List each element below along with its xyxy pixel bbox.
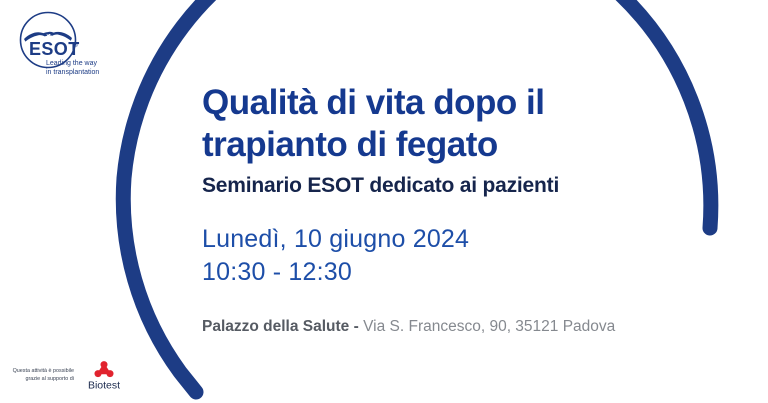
biotest-trefoil-icon <box>95 361 114 377</box>
venue-address: Via S. Francesco, 90, 35121 Padova <box>363 318 615 335</box>
event-venue: Palazzo della Salute - Via S. Francesco,… <box>202 317 732 337</box>
biotest-wordmark: Biotest <box>88 380 120 392</box>
event-time: 10:30 - 12:30 <box>202 256 732 289</box>
event-datetime: Lunedì, 10 giugno 2024 10:30 - 12:30 <box>202 223 732 289</box>
sponsor-block: Questa attività è possibile grazie al su… <box>8 359 127 393</box>
event-date: Lunedì, 10 giugno 2024 <box>202 223 732 256</box>
sponsor-credit-line-1: Questa attività è possibile <box>8 368 74 376</box>
biotest-logo: Biotest <box>81 359 127 393</box>
esot-logo: ESOT ® Leading the way in transplantatio… <box>10 8 122 80</box>
venue-name: Palazzo della Salute - <box>202 318 359 335</box>
sponsor-credit-text: Questa attività è possibile grazie al su… <box>8 368 74 383</box>
esot-tagline-line1: Leading the way <box>46 60 97 67</box>
esot-wordmark: ESOT <box>29 39 80 59</box>
event-banner: ESOT ® Leading the way in transplantatio… <box>0 0 768 403</box>
esot-registered-mark: ® <box>74 42 79 49</box>
page-title: Qualità di vita dopo il trapianto di feg… <box>202 82 732 166</box>
banner-content: Qualità di vita dopo il trapianto di feg… <box>202 82 732 337</box>
esot-tagline-line2: in transplantation <box>46 69 99 76</box>
sponsor-credit-line-2: grazie al supporto di <box>8 376 74 384</box>
title-line-2: trapianto di fegato <box>202 124 732 166</box>
title-line-1: Qualità di vita dopo il <box>202 82 732 124</box>
event-subtitle: Seminario ESOT dedicato ai pazienti <box>202 172 732 199</box>
